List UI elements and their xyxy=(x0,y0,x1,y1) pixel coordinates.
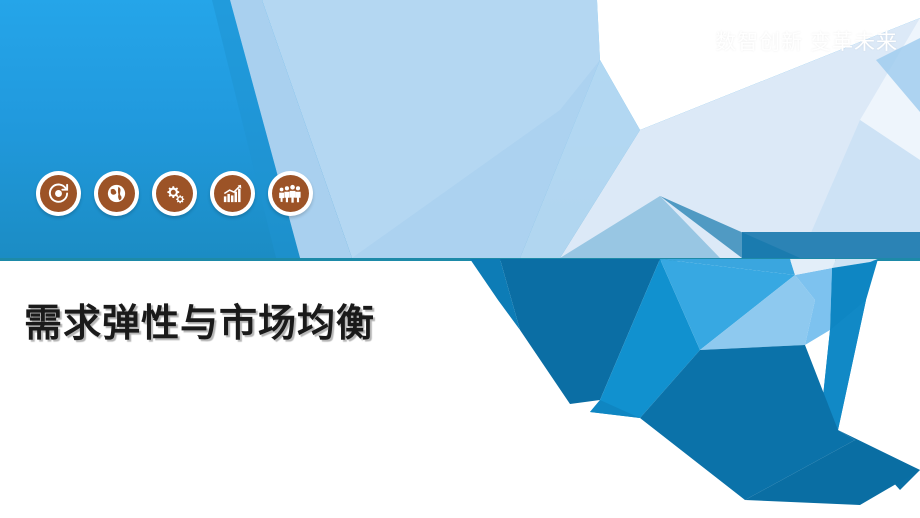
page-title: 需求弹性与市场均衡 xyxy=(24,292,375,347)
tagline: 数智创新 变革未来 xyxy=(715,26,898,56)
globe-icon xyxy=(98,175,135,212)
bar-chart-icon xyxy=(214,175,251,212)
refresh-cycle-icon xyxy=(40,175,77,212)
icon-badge-gears[interactable] xyxy=(152,171,197,216)
icon-row xyxy=(36,171,313,216)
presentation-slide: 数智创新 变革未来 xyxy=(0,0,920,518)
icon-badge-globe[interactable] xyxy=(94,171,139,216)
gears-icon xyxy=(156,175,193,212)
icon-badge-refresh-cycle[interactable] xyxy=(36,171,81,216)
icon-badge-people-group[interactable] xyxy=(268,171,313,216)
banner-bottom-rule xyxy=(0,258,920,261)
icon-badge-bar-chart[interactable] xyxy=(210,171,255,216)
people-group-icon xyxy=(272,175,309,212)
